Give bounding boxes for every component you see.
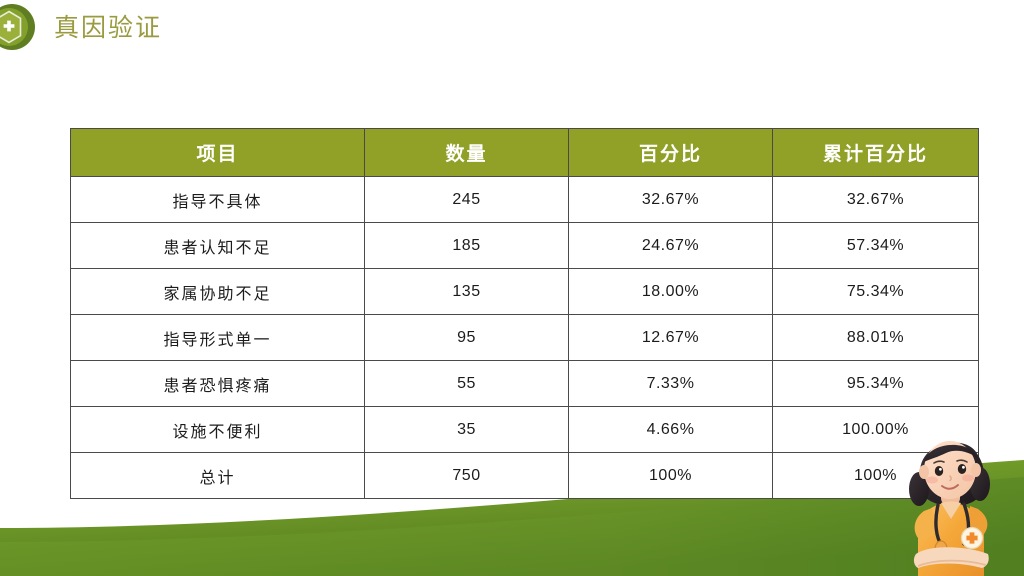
nurse-badge [962, 528, 983, 549]
cell-count: 750 [365, 453, 569, 499]
cell-cumulative: 75.34% [773, 269, 979, 315]
column-header-cumulative: 累计百分比 [773, 129, 979, 177]
cell-percent: 4.66% [569, 407, 773, 453]
cell-item: 患者认知不足 [71, 223, 365, 269]
cell-count: 95 [365, 315, 569, 361]
page-title: 真因验证 [54, 16, 162, 41]
cell-count: 55 [365, 361, 569, 407]
cell-item: 指导形式单一 [71, 315, 365, 361]
hexagon-medical-cross-icon [0, 3, 36, 51]
column-header-percent: 百分比 [569, 129, 773, 177]
stethoscope-chestpiece [935, 541, 947, 557]
scrub-top [918, 503, 984, 576]
cell-cumulative: 88.01% [773, 315, 979, 361]
table-header-row: 项目 数量 百分比 累计百分比 [71, 129, 979, 177]
cell-item: 设施不便利 [71, 407, 365, 453]
table-row: 家属协助不足 135 18.00% 75.34% [71, 269, 979, 315]
cell-percent: 12.67% [569, 315, 773, 361]
cell-cumulative: 95.34% [773, 361, 979, 407]
cell-cumulative: 100.00% [773, 407, 979, 453]
root-cause-table: 项目 数量 百分比 累计百分比 指导不具体 245 32.67% 32.67% … [70, 128, 979, 499]
root-cause-table-container: 项目 数量 百分比 累计百分比 指导不具体 245 32.67% 32.67% … [70, 128, 978, 499]
stethoscope-tube-left [936, 505, 942, 546]
cell-count: 135 [365, 269, 569, 315]
column-header-item: 项目 [71, 129, 365, 177]
table-body: 指导不具体 245 32.67% 32.67% 患者认知不足 185 24.67… [71, 177, 979, 499]
cell-count: 35 [365, 407, 569, 453]
cell-cumulative: 32.67% [773, 177, 979, 223]
table-row: 患者恐惧疼痛 55 7.33% 95.34% [71, 361, 979, 407]
cell-item: 指导不具体 [71, 177, 365, 223]
cell-percent: 100% [569, 453, 773, 499]
table-header: 项目 数量 百分比 累计百分比 [71, 129, 979, 177]
cell-count: 245 [365, 177, 569, 223]
column-header-count: 数量 [365, 129, 569, 177]
cell-item: 患者恐惧疼痛 [71, 361, 365, 407]
slide-header: 真因验证 [0, 0, 1024, 62]
cell-count: 185 [365, 223, 569, 269]
cell-cumulative: 100% [773, 453, 979, 499]
table-row: 患者认知不足 185 24.67% 57.34% [71, 223, 979, 269]
slide-canvas: 真因验证 项目 数量 百分比 累计百分比 指导不具体 245 32.67% [0, 0, 1024, 576]
crossed-arms [914, 547, 989, 568]
cell-item: 家属协助不足 [71, 269, 365, 315]
cell-percent: 18.00% [569, 269, 773, 315]
cell-percent: 7.33% [569, 361, 773, 407]
cell-percent: 32.67% [569, 177, 773, 223]
table-row-total: 总计 750 100% 100% [71, 453, 979, 499]
table-row: 指导形式单一 95 12.67% 88.01% [71, 315, 979, 361]
cell-cumulative: 57.34% [773, 223, 979, 269]
table-row: 指导不具体 245 32.67% 32.67% [71, 177, 979, 223]
cell-percent: 24.67% [569, 223, 773, 269]
badge-cross-icon [966, 532, 977, 543]
stethoscope-tube-right [964, 504, 969, 544]
cell-item: 总计 [71, 453, 365, 499]
table-row: 设施不便利 35 4.66% 100.00% [71, 407, 979, 453]
